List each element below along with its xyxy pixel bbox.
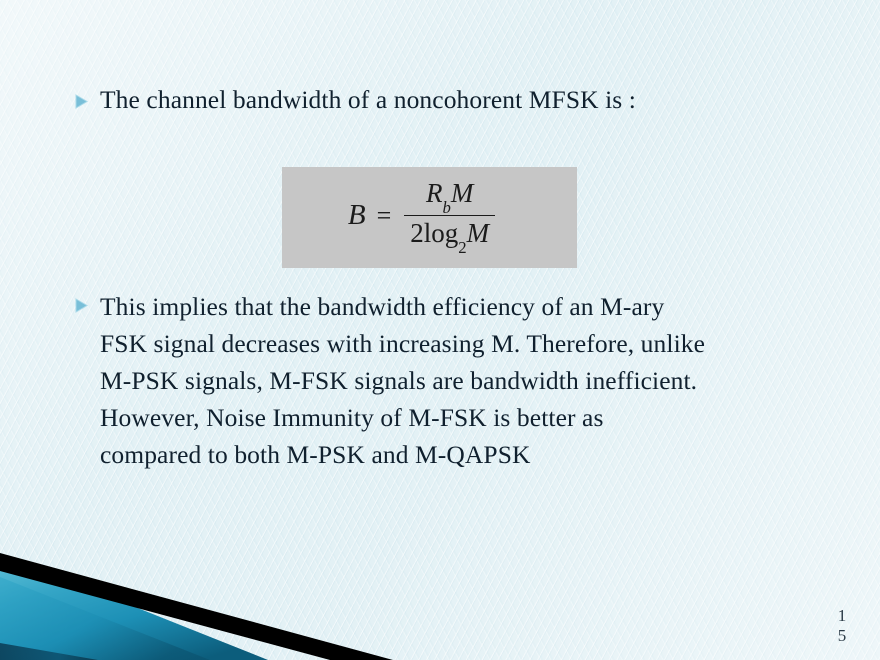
formula-numerator-subscript: b: [443, 198, 451, 217]
formula-box: B = RbM 2log2M: [282, 167, 577, 268]
page-number-line-2: 5: [831, 626, 853, 646]
formula-denominator: 2log2M: [404, 215, 495, 253]
triangle-bullet-icon: [74, 84, 100, 110]
page-number: 1 5: [831, 606, 853, 646]
bullet-body-text: This implies that the bandwidth efficien…: [100, 288, 705, 473]
formula-denominator-subscript: 2: [458, 238, 466, 257]
formula-equals-sign: =: [377, 201, 392, 231]
slide-content: The channel bandwidth of a noncohorent M…: [0, 0, 880, 660]
page-number-line-1: 1: [831, 606, 853, 626]
formula-numerator-main: R: [426, 178, 443, 208]
bullet-item-body: This implies that the bandwidth efficien…: [74, 288, 854, 473]
bullet-intro-text: The channel bandwidth of a noncohorent M…: [100, 84, 636, 116]
formula-denominator-prefix: 2log: [410, 218, 458, 248]
bullet-item-intro: The channel bandwidth of a noncohorent M…: [74, 84, 834, 116]
formula-numerator: RbM: [420, 178, 479, 215]
formula-denominator-tail: M: [467, 218, 490, 248]
formula-numerator-tail: M: [451, 178, 474, 208]
formula-left-side: B: [348, 199, 366, 232]
bandwidth-formula: B = RbM 2log2M: [348, 178, 495, 254]
formula-fraction: RbM 2log2M: [404, 178, 495, 254]
presentation-slide: The channel bandwidth of a noncohorent M…: [0, 0, 880, 660]
triangle-bullet-icon: [74, 288, 100, 314]
